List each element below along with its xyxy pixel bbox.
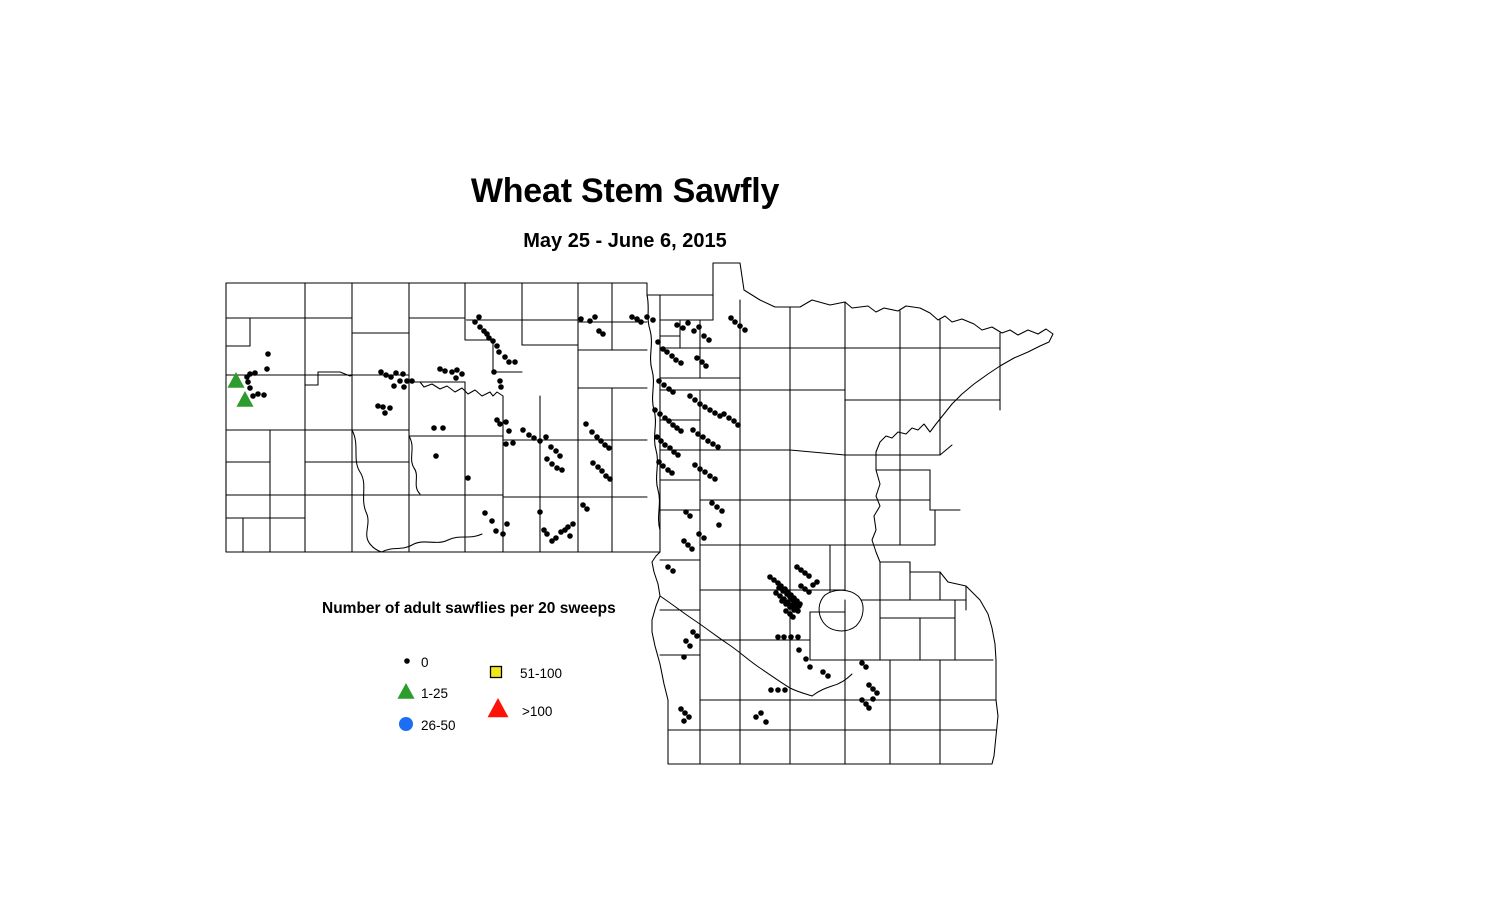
legend-symbol-yellow-square bbox=[491, 667, 502, 678]
page-root: Wheat Stem Sawfly May 25 - June 6, 2015 bbox=[0, 0, 1503, 900]
legend-label-red-triangle: >100 bbox=[522, 704, 552, 719]
legend-label-blue-circle: 26-50 bbox=[421, 718, 456, 733]
legend-symbol-green-triangle bbox=[397, 683, 414, 699]
legend-symbol-red-triangle bbox=[488, 698, 509, 717]
legend-label-green-triangle: 1-25 bbox=[421, 686, 448, 701]
legend-label-yellow-square: 51-100 bbox=[520, 666, 562, 681]
legend-symbol-small-dot bbox=[404, 658, 410, 664]
map-legend[interactable]: 01-2526-5051-100>100 bbox=[0, 0, 1503, 900]
legend-label-small-dot: 0 bbox=[421, 655, 429, 670]
legend-symbol-blue-circle bbox=[399, 717, 413, 731]
